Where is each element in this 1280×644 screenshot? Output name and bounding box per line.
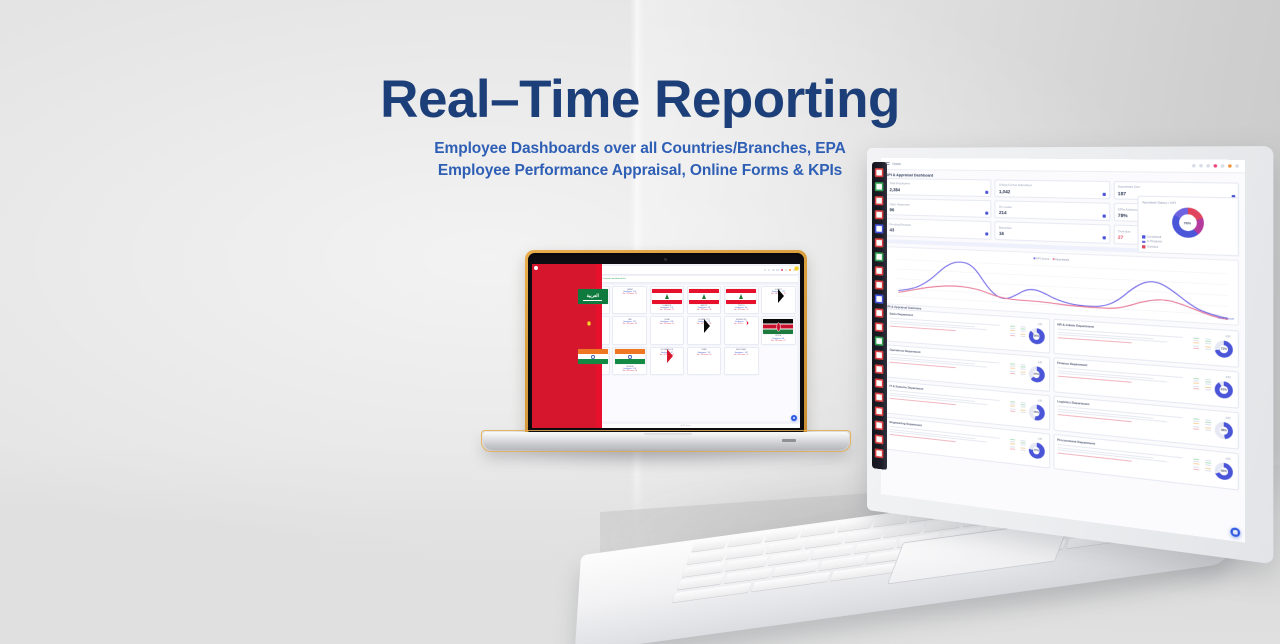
donut-legend-item: Completed — [1142, 235, 1162, 239]
progress-ring: 69% — [1215, 462, 1233, 481]
edge-dot-icon — [875, 434, 884, 444]
country-leave-stat: Vac : 08 Leave : 18 — [615, 370, 645, 372]
chat-support-fab[interactable] — [791, 415, 797, 421]
country-flag-icon — [615, 349, 645, 364]
donut-legend-item: Overdue — [1142, 245, 1162, 249]
country-card[interactable]: SINGAPOREEmployees : 52Vac : 01 Leave : … — [724, 316, 759, 344]
hero-subtitle-block: Employee Dashboards over all Countries/B… — [0, 138, 1280, 182]
legend-label: In Progress — [1147, 240, 1162, 244]
sidebar-item-oman[interactable]: Oman — [534, 346, 569, 352]
kpi-value: 27 — [1118, 235, 1124, 241]
country-leave-stat: Vac : 05 Leave : 12 — [726, 354, 756, 356]
country-card[interactable]: KUWAIT CITYEmployees : 76Vac : 03 Leave … — [687, 316, 722, 344]
edge-dot-icon — [875, 336, 884, 346]
country-flag-icon — [578, 349, 608, 364]
country-card[interactable]: QATAREmployees : 216Vac : 07 Leave : 19 — [612, 286, 647, 314]
country-flag-icon — [763, 319, 793, 334]
progress-ring: 77% — [1028, 442, 1044, 460]
edge-dot-icon — [875, 210, 884, 219]
edge-dot-icon — [875, 364, 884, 374]
kpi-value: 187 — [1118, 191, 1126, 197]
ring-label: KPI — [1226, 376, 1231, 380]
mini-stat-columns — [1009, 325, 1025, 336]
progress-value: 48% — [1215, 421, 1233, 440]
progress-ring: 48% — [1215, 421, 1233, 440]
right-laptop-screen[interactable]: Home KPI & Appraisal Dashboard Total Emp… — [881, 158, 1245, 543]
kpi-value: 2,384 — [890, 187, 901, 192]
kpi-card[interactable]: Open Vacancies96 — [886, 198, 992, 218]
country-card[interactable]: UAEEmployees : 327Vac : 09 Leave : 26 — [612, 316, 647, 344]
ring-label: KPI — [1038, 399, 1042, 403]
edge-dot-icon — [875, 196, 884, 205]
settings-icon[interactable] — [789, 269, 791, 271]
kpi-value: 16 — [999, 231, 1004, 236]
kpi-value: 96 — [890, 207, 895, 212]
bell-icon[interactable] — [781, 269, 783, 271]
mini-stat-columns — [1193, 458, 1211, 471]
edge-dot-icon — [875, 294, 884, 304]
edge-dot-icon — [875, 238, 884, 247]
kpi-label: Pending Reviews — [890, 222, 988, 229]
kpi-card[interactable]: On Leave214 — [995, 200, 1110, 221]
progress-ring: 55% — [1028, 404, 1044, 421]
detail-line — [1057, 376, 1132, 383]
progress-value: 91% — [1215, 381, 1233, 399]
edge-dot-icon — [875, 252, 884, 261]
kpi-indicator-icon — [985, 191, 988, 194]
edge-indicator-dots — [875, 168, 885, 464]
country-card[interactable]: KUWAITEmployees : 173Vac : 06 Leave : 14 — [761, 286, 796, 314]
progress-ring: 72% — [1215, 340, 1233, 358]
country-card[interactable]: MUMBAIEmployees : 206Vac : 08 Leave : 18 — [612, 347, 647, 375]
progress-ring: 91% — [1215, 381, 1233, 399]
ring-label: KPI — [1226, 457, 1231, 461]
mini-stat-columns — [1009, 401, 1025, 413]
page-title: Real–Time Reporting — [0, 72, 1280, 128]
kpi-indicator-icon — [1103, 193, 1106, 196]
country-card[interactable]: BEIRUTEmployees : 98Vac : 03 Leave : 08 — [687, 286, 722, 314]
country-leave-stat: Vac : 04 Leave : 10 — [689, 354, 719, 356]
country-card[interactable]: OMANEmployees : 129Vac : 04 Leave : 10 — [687, 347, 722, 375]
mini-stat-columns — [1009, 363, 1025, 375]
chat-support-fab[interactable] — [1230, 527, 1240, 537]
country-leave-stat: Vac : 02 Leave : 05 — [726, 309, 756, 311]
country-flag-icon — [652, 289, 682, 304]
legend-label: Completed — [1147, 235, 1161, 239]
kpi-score-line — [898, 259, 1227, 318]
kpi-label: Open Vacancies — [890, 202, 988, 208]
country-card-grid: العربيةKSAEmployees : 482Vac : 12 Leave … — [573, 284, 798, 422]
donut-center-value: 78% — [1171, 207, 1203, 238]
chat-icon[interactable] — [776, 269, 778, 271]
front-topbar-icons — [764, 269, 796, 271]
edge-dot-icon — [875, 182, 884, 191]
sidebar-item-list: AllSaudi ArabiaQatarLebanon BeirutKuwait… — [534, 294, 569, 387]
country-leave-stat: Vac : 01 Leave : 04 — [726, 323, 756, 325]
kpi-label: Appraisals Due — [1118, 185, 1234, 191]
front-footer: ACTS Group — [571, 424, 800, 428]
kpi-value: 1,042 — [999, 189, 1010, 194]
kpi-dashboard: Home KPI & Appraisal Dashboard Total Emp… — [881, 158, 1245, 543]
mail-icon[interactable] — [772, 269, 774, 271]
country-leave-stat: Vac : 04 Leave : 07 — [763, 340, 793, 342]
kpi-indicator-icon — [985, 232, 988, 235]
country-card[interactable]: DUBAIEmployees : 188Vac : 05 Leave : 15 — [650, 316, 685, 344]
ring-label: KPI — [1038, 323, 1042, 326]
progress-ring: 64% — [1028, 366, 1044, 383]
donut-legend-item: In Progress — [1142, 240, 1162, 244]
front-topbar: Countries Dashboard — [573, 266, 798, 274]
legend-swatch-icon — [1142, 240, 1145, 243]
mini-stat-columns — [1193, 338, 1211, 350]
legend-swatch-icon — [1142, 245, 1145, 248]
kpi-label: Online Forms Submitted — [999, 183, 1106, 189]
front-laptop-screen[interactable]: ACTS GROUP Powered by Human Capital Sear… — [532, 264, 800, 428]
edge-dot-icon — [875, 392, 884, 402]
calendar-icon[interactable] — [768, 269, 770, 271]
department-card-grid: Sales DepartmentKPI86%HR & Admin Departm… — [886, 308, 1239, 490]
edge-dot-icon — [875, 420, 884, 430]
mini-stat-columns — [1193, 418, 1211, 431]
ring-label: KPI — [1038, 361, 1042, 365]
country-leave-stat: Vac : 09 Leave : 26 — [615, 323, 645, 325]
country-card[interactable]: ABU DHABIEmployees : 143Vac : 05 Leave :… — [724, 347, 759, 375]
notice-banner: Select language here and all Countries d… — [573, 276, 798, 282]
ring-label: KPI — [1226, 335, 1231, 339]
ring-label: KPI — [1038, 438, 1042, 442]
country-card[interactable]: LEBANONEmployees : 154Vac : 05 Leave : 1… — [650, 286, 685, 314]
country-card[interactable]: TRIPOLIEmployees : 64Vac : 02 Leave : 05 — [724, 286, 759, 314]
kpi-value: 43 — [890, 227, 895, 232]
country-leave-stat: Vac : 03 Leave : 08 — [689, 309, 719, 311]
mini-stat-columns — [1009, 439, 1025, 451]
progress-ring: 86% — [1028, 328, 1044, 345]
progress-value: 69% — [1215, 462, 1233, 481]
sidebar: ACTS GROUP Powered by Human Capital Sear… — [532, 264, 571, 428]
kpi-card[interactable]: Online Forms Submitted1,042 — [995, 179, 1110, 199]
front-laptop-device: ACTS GROUP Powered by Human Capital Sear… — [478, 250, 818, 470]
ring-label: KPI — [1226, 417, 1231, 421]
progress-value: 55% — [1028, 404, 1044, 421]
country-leave-stat: Vac : 07 Leave : 19 — [615, 293, 645, 295]
legend-swatch-icon — [1142, 235, 1145, 238]
donut-chart: 78% — [1171, 207, 1203, 238]
hero-subtitle-line-2: Employee Performance Appraisal, Online F… — [0, 160, 1280, 182]
edge-dot-icon — [875, 350, 884, 360]
progress-value: 77% — [1028, 442, 1044, 460]
right-laptop-screen-edge — [872, 162, 887, 470]
progress-value: 72% — [1215, 340, 1233, 358]
appraisal-donut-card: Appraisal Status / KPI 78% CompletedIn P… — [1137, 196, 1239, 257]
country-flag-icon: العربية — [578, 289, 608, 304]
progress-value: 64% — [1028, 366, 1044, 383]
kpi-indicator-icon — [1103, 236, 1106, 239]
kpi-value: 78% — [1118, 213, 1128, 219]
kpi-indicator-icon — [1103, 214, 1106, 217]
hero-subtitle-line-1: Employee Dashboards over all Countries/B… — [0, 138, 1280, 160]
scene: Real–Time Reporting Employee Dashboards … — [0, 0, 1280, 644]
edge-dot-icon — [875, 280, 884, 290]
kpi-label: On Leave — [999, 204, 1106, 211]
progress-value: 86% — [1028, 328, 1044, 345]
edge-dot-icon — [875, 378, 884, 388]
kpi-card[interactable]: Branches16 — [995, 222, 1110, 244]
kpi-indicator-icon — [985, 212, 988, 215]
edge-dot-icon — [875, 448, 884, 458]
edge-dot-icon — [875, 308, 884, 318]
webcam-icon — [664, 258, 667, 261]
country-card[interactable]: MOZAMBIQUEEmployees : 37Vac : 01 Leave :… — [650, 347, 685, 375]
countries-dashboard: ACTS GROUP Powered by Human Capital Sear… — [532, 264, 800, 428]
country-leave-stat: Vac : 05 Leave : 15 — [652, 323, 682, 325]
kpi-label: Branches — [999, 225, 1106, 232]
hero-headline-block: Real–Time Reporting — [0, 72, 1280, 128]
front-laptop-gold-rim — [481, 430, 851, 452]
donut-legend: CompletedIn ProgressOverdue — [1142, 235, 1162, 249]
country-card[interactable]: KENYAEmployees : 88Vac : 04 Leave : 07 — [761, 316, 796, 344]
kpi-card[interactable]: Pending Reviews43 — [886, 218, 992, 239]
country-flag-icon — [726, 289, 756, 304]
grid-icon[interactable] — [764, 269, 766, 271]
edge-dot-icon — [875, 266, 884, 276]
edge-dot-icon — [875, 322, 884, 332]
donut-title: Appraisal Status / KPI — [1142, 200, 1234, 206]
flag-icon[interactable] — [785, 269, 787, 271]
kpi-label: Total Employees — [890, 182, 988, 188]
kpi-value: 214 — [999, 210, 1007, 215]
edge-dot-icon — [875, 224, 884, 233]
edge-dot-icon — [875, 406, 884, 416]
country-flag-icon — [689, 289, 719, 304]
country-flag-icon — [536, 347, 540, 350]
main-content: Countries Dashboard Select langu — [571, 264, 800, 428]
country-leave-stat: Vac : 05 Leave : 11 — [652, 309, 682, 311]
legend-label: Overdue — [1147, 245, 1158, 249]
mini-stat-columns — [1193, 378, 1211, 390]
